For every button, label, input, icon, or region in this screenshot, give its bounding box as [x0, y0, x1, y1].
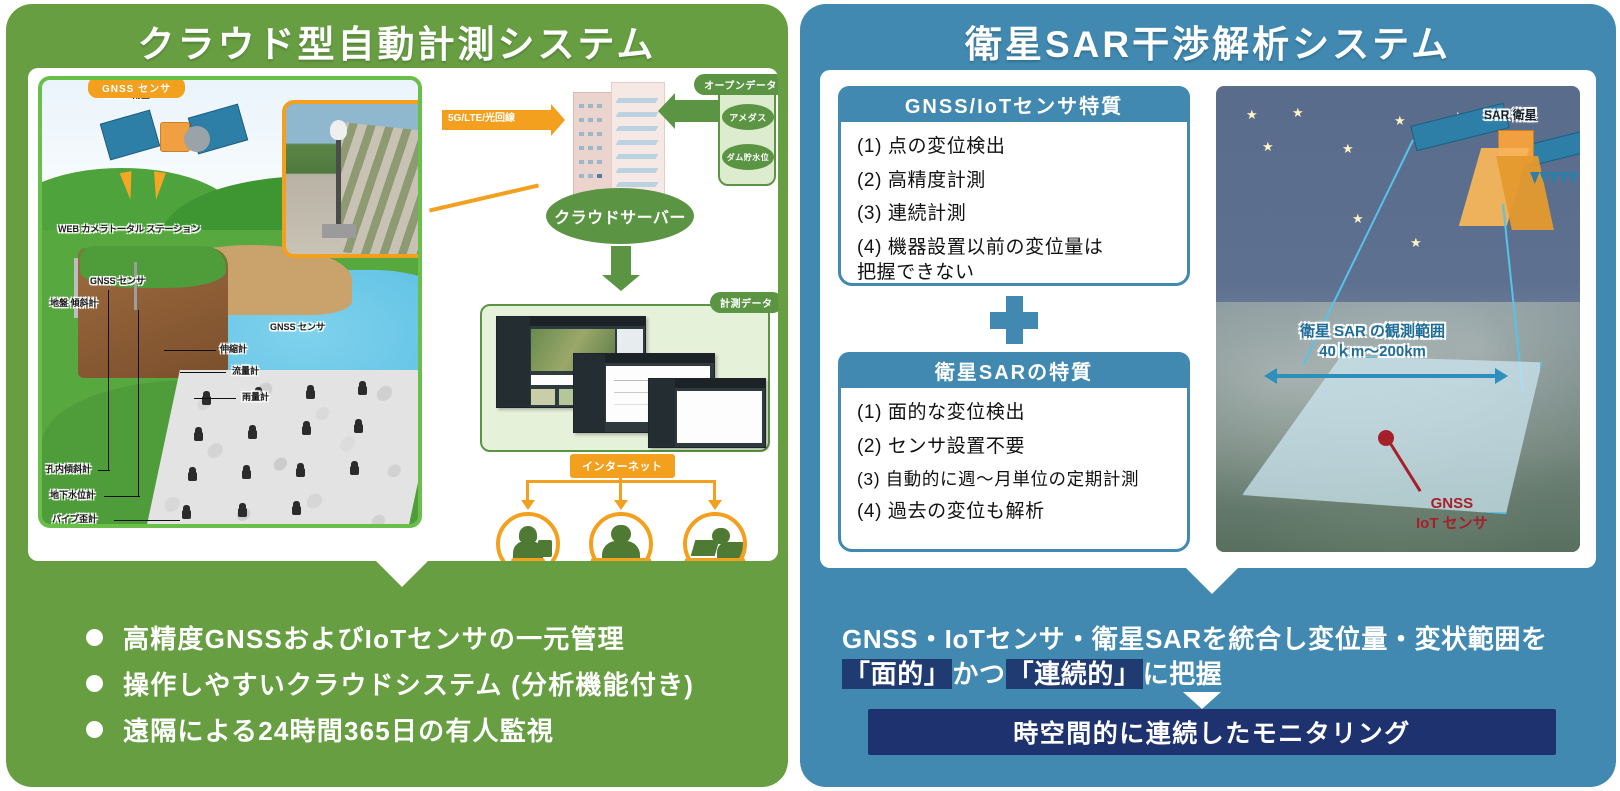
anchor-sensor — [292, 506, 301, 515]
anchor-sensor — [354, 424, 363, 433]
leader-borehole-h — [98, 470, 110, 471]
feature-item: (4) 機器設置以前の変位量は 把握できない — [857, 236, 1177, 285]
internet-label: インターネット — [570, 454, 675, 478]
cloud-system-panel: クラウド型自動計測システム — [6, 4, 788, 787]
star-icon: ★ — [1342, 142, 1354, 155]
leader-groundwater — [138, 310, 139, 496]
anchor-sensor — [358, 386, 367, 395]
leader-borehole — [108, 290, 109, 470]
leader-groundwater-h — [104, 496, 140, 497]
open-data-title: オープンデータ — [694, 74, 778, 95]
cloud-panel-title: クラウド型自動計測システム — [6, 14, 788, 68]
sar-feature-heading: 衛星SARの特質 — [838, 352, 1190, 388]
label-network: 5G/LTE/光回線 — [448, 113, 515, 125]
photo-link-arrow — [429, 183, 539, 212]
infographic-root: クラウド型自動計測システム — [0, 0, 1620, 791]
user-field-label: 現場 — [511, 558, 545, 561]
field-worker-icon — [519, 526, 537, 542]
open-data-arrow — [674, 100, 718, 122]
plus-icon — [990, 296, 1038, 344]
user-field-icon — [496, 512, 560, 561]
label-sar-satellite: SAR 衛星 — [1484, 108, 1537, 124]
cloud-server-label: クラウドサーバー — [546, 188, 694, 244]
internet-drop-right — [713, 480, 716, 502]
list-item: 遠隔による24時間365日の有人監視 — [86, 711, 694, 748]
measurement-data-title: 計測データ — [710, 292, 778, 313]
gnss-sensor-photo-label: GNSS センサ — [88, 77, 185, 98]
open-data-box — [718, 82, 776, 186]
feature-item: (3) 自動的に週〜月単位の定期計測 — [857, 468, 1177, 491]
sar-feature-list: (1) 面的な変位検出 (2) センサ設置不要 (3) 自動的に週〜月単位の定期… — [857, 401, 1177, 534]
leader-extensometer — [164, 350, 216, 351]
summary-middle: かつ — [952, 659, 1005, 689]
internet-drop-left — [526, 480, 529, 502]
gnss-feature-list: (1) 点の変位検出 (2) 高精度計測 (3) 連続計測 (4) 機器設置以前… — [857, 135, 1177, 294]
observation-range-arrow — [1276, 374, 1496, 378]
sar-observation-illustration: ★ ★ ★ ★ ★ ★ ★ ★ SAR 衛星 — [1216, 86, 1580, 552]
anchor-sensor — [302, 426, 311, 435]
label-gnss-iot-sensor: GNSS IoT センサ — [1416, 494, 1488, 533]
label-gnss-sensor-dam: GNSS センサ — [270, 322, 325, 332]
anchor-sensor — [242, 470, 251, 479]
user-office-icon — [589, 512, 653, 561]
anchor-sensor — [248, 430, 257, 439]
label-gnss-sensor-ground: GNSS センサ — [90, 276, 145, 286]
star-icon: ★ — [1262, 140, 1274, 153]
mast-web-camera — [74, 258, 78, 318]
anchor-sensor — [188, 472, 197, 481]
label-web-camera: WEB カメラ — [58, 224, 109, 234]
sar-system-panel: 衛星SAR干渉解析システム GNSS/IoTセンサ特質 (1) 点の変位検出 (… — [800, 4, 1616, 787]
bullet-icon — [86, 629, 103, 646]
anchor-sensor — [350, 466, 359, 475]
feature-item: (1) 面的な変位検出 — [857, 401, 1177, 426]
summary-highlight-areal: 「面的」 — [842, 659, 952, 689]
arrow-to-telework — [708, 500, 722, 510]
open-data-item-amedas: アメダス — [722, 104, 774, 130]
benefit-text: 操作しやすいクラウドシステム (分析機能付き) — [123, 665, 694, 702]
bullet-icon — [86, 675, 103, 692]
leader-raingauge — [194, 398, 236, 399]
label-extensometer: 伸縮計 — [220, 344, 247, 354]
anchor-sensor — [296, 468, 305, 477]
user-telework-icon — [683, 512, 747, 561]
user-office-label: 管理事務所 — [590, 558, 651, 561]
sar-diagram-card: GNSS/IoTセンサ特質 (1) 点の変位検出 (2) 高精度計測 (3) 連… — [820, 70, 1596, 568]
star-icon: ★ — [1394, 114, 1406, 127]
cloud-benefits-list: 高精度GNSSおよびIoTセンサの一元管理 操作しやすいクラウドシステム (分析… — [86, 619, 694, 757]
benefit-text: 遠隔による24時間365日の有人監視 — [123, 711, 554, 748]
gnss-antenna-pole — [336, 136, 341, 228]
anchor-sensor — [238, 508, 247, 517]
summary-notch — [1183, 692, 1221, 709]
list-item: 操作しやすいクラウドシステム (分析機能付き) — [86, 665, 694, 702]
label-ground-inclinometer: 地盤 傾斜計 — [50, 298, 98, 308]
arrow-to-office — [614, 500, 628, 510]
star-icon: ★ — [1292, 106, 1304, 119]
user-telework-label: テレワーク — [684, 558, 745, 561]
summary-tail: に把握 — [1143, 659, 1223, 689]
gnss-feature-heading: GNSS/IoTセンサ特質 — [838, 86, 1190, 122]
cloud-system-illustration: GNSS 衛星 — [28, 68, 778, 561]
gnss-satellite-icon — [104, 108, 244, 178]
monitoring-screenshot-3 — [648, 378, 766, 448]
sar-feature-box: 衛星SARの特質 (1) 面的な変位検出 (2) センサ設置不要 (3) 自動的… — [838, 352, 1190, 552]
feature-item: (4) 過去の変位も解析 — [857, 500, 1177, 525]
benefit-text: 高精度GNSSおよびIoTセンサの一元管理 — [123, 619, 625, 656]
summary-line-1: GNSS・IoTセンサ・衛星SARを統合し変位量・変状範囲を — [842, 624, 1548, 654]
bullet-icon — [86, 721, 103, 738]
sar-satellite-icon — [1412, 108, 1580, 228]
feature-item: (2) センサ設置不要 — [857, 435, 1177, 460]
anchor-sensor — [194, 432, 203, 441]
label-groundwater-level: 地下水位計 — [50, 490, 95, 500]
internet-drop-mid — [619, 468, 622, 502]
gnss-feature-box: GNSS/IoTセンサ特質 (1) 点の変位検出 (2) 高精度計測 (3) 連… — [838, 86, 1190, 286]
leader-flowmeter — [180, 372, 226, 373]
star-icon: ★ — [1352, 212, 1364, 225]
label-observation-range: 衛星 SAR の観測範囲 40ｋm〜200km — [1300, 322, 1445, 361]
open-data-item-dam-level: ダム貯水位 — [722, 144, 774, 170]
conclusion-banner: 時空間的に連続したモニタリング — [868, 709, 1556, 755]
feature-item: (3) 連続計測 — [857, 202, 1177, 227]
list-item: 高精度GNSSおよびIoTセンサの一元管理 — [86, 619, 694, 656]
leader-pipe — [114, 520, 180, 521]
sar-panel-notch — [1186, 568, 1238, 594]
cloud-panel-notch — [376, 561, 428, 587]
cloud-diagram-card: GNSS 衛星 — [28, 68, 778, 561]
arrow-to-field — [521, 500, 535, 510]
antenna-base — [322, 224, 356, 238]
gnss-sensor-photo — [282, 100, 422, 258]
label-pipe-strain-gauge: パイプ歪計 — [52, 514, 97, 524]
label-rain-gauge: 雨量計 — [242, 392, 269, 402]
label-borehole-inclinometer: 孔内傾斜計 — [46, 464, 91, 474]
field-scene: GNSS 衛星 — [38, 76, 422, 528]
label-total-station: トータル ステーション — [108, 224, 200, 234]
feature-item: (1) 点の変位検出 — [857, 135, 1177, 160]
sar-summary-text: GNSS・IoTセンサ・衛星SARを統合し変位量・変状範囲を 「面的」かつ「連続… — [842, 622, 1582, 693]
label-flowmeter: 流量計 — [232, 366, 259, 376]
anchor-sensor — [306, 390, 315, 399]
anchor-sensor — [182, 510, 191, 519]
star-icon: ★ — [1246, 108, 1258, 121]
sar-panel-title: 衛星SAR干渉解析システム — [800, 14, 1616, 68]
star-icon: ★ — [1410, 236, 1422, 249]
feature-item: (2) 高精度計測 — [857, 169, 1177, 194]
summary-highlight-continuous: 「連続的」 — [1006, 659, 1143, 689]
cloud-to-data-arrow — [611, 246, 631, 276]
